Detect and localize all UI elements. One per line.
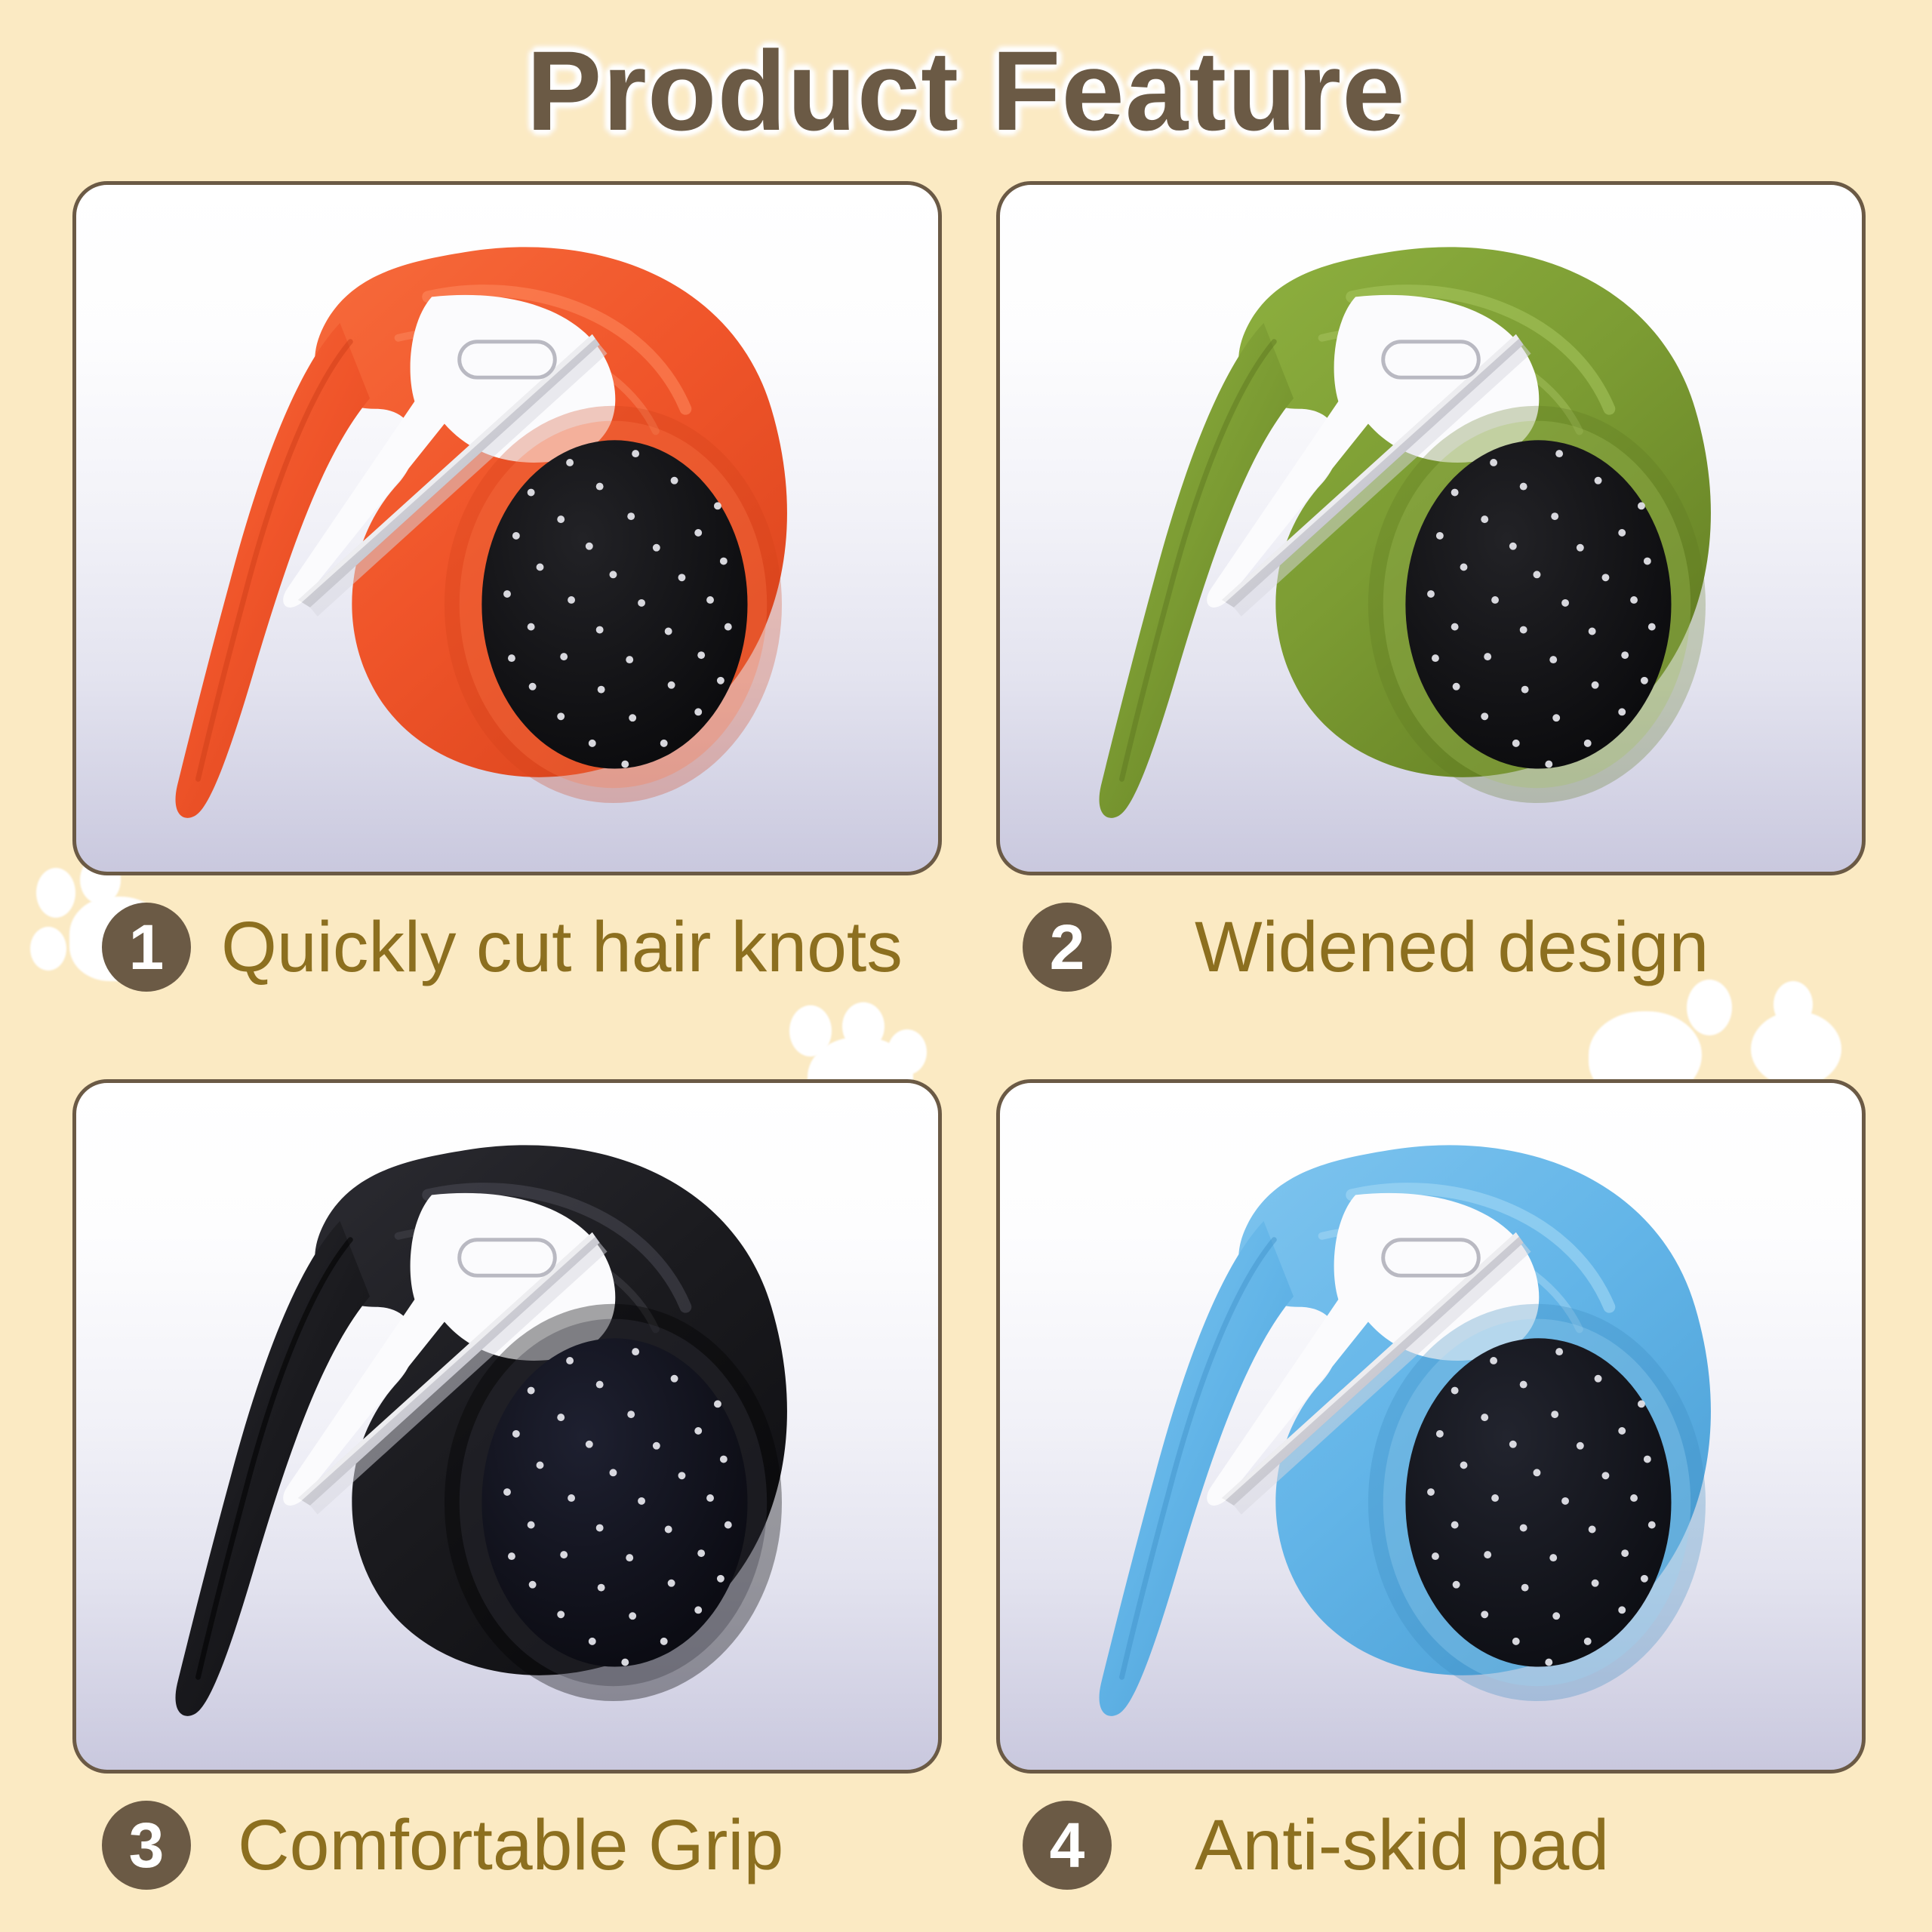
feature-panel-3: [72, 1079, 942, 1774]
feature-panel-4: [996, 1079, 1866, 1774]
feature-caption-4: 4 Anti-skid pad: [1023, 1801, 1609, 1890]
product-image-orange-dematting-tool: [76, 185, 938, 872]
feature-label-3: Comfortable Grip: [238, 1810, 783, 1881]
page-title: Product Feature: [0, 26, 1932, 156]
feature-number-badge-4: 4: [1023, 1801, 1112, 1890]
feature-caption-2: 2 Widened design: [1023, 903, 1709, 992]
feature-label-1: Quickly cut hair knots: [221, 912, 903, 983]
product-image-blue-dematting-tool: [1000, 1083, 1862, 1770]
product-image-black-dematting-tool: [76, 1083, 938, 1770]
feature-caption-3: 3 Comfortable Grip: [102, 1801, 783, 1890]
feature-number-badge-1: 1: [102, 903, 191, 992]
feature-number-badge-2: 2: [1023, 903, 1112, 992]
feature-label-2: Widened design: [1195, 912, 1709, 983]
product-image-green-dematting-tool: [1000, 185, 1862, 872]
feature-panel-2: [996, 181, 1866, 875]
feature-label-4: Anti-skid pad: [1195, 1810, 1609, 1881]
feature-number-badge-3: 3: [102, 1801, 191, 1890]
feature-panel-1: [72, 181, 942, 875]
feature-caption-1: 1 Quickly cut hair knots: [102, 903, 903, 992]
